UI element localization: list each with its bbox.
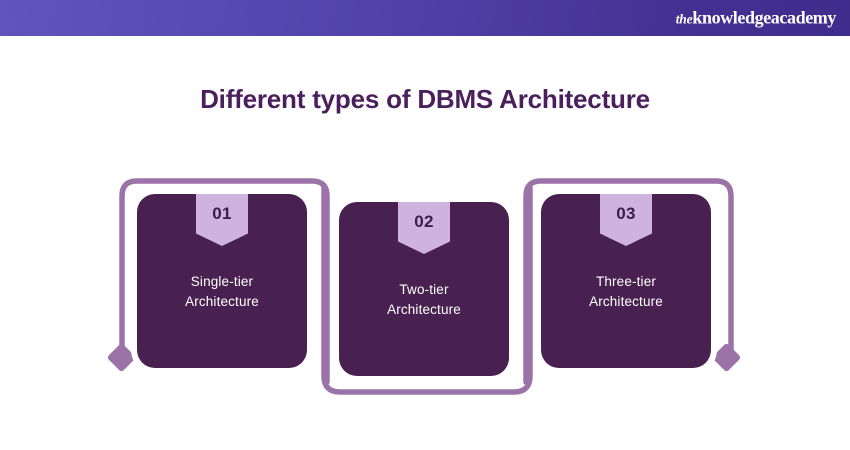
infographic-diagram: 01 Single-tier Architecture 02 Two-tier … [0,0,850,450]
card-1-label-line1: Single-tier [185,272,259,292]
card-1-label-line2: Architecture [185,292,259,312]
card-2-ribbon: 02 [398,202,450,254]
card-3-label-line2: Architecture [589,292,663,312]
card-2-label: Two-tier Architecture [377,280,471,319]
card-1-ribbon: 01 [196,194,248,246]
card-2-label-line2: Architecture [387,300,461,320]
card-3-label: Three-tier Architecture [579,272,673,311]
card-1-label: Single-tier Architecture [175,272,269,311]
card-1-number: 01 [212,204,232,224]
card-two-tier[interactable]: 02 Two-tier Architecture [339,202,509,376]
card-3-number: 03 [616,204,636,224]
card-2-label-line1: Two-tier [387,280,461,300]
card-single-tier[interactable]: 01 Single-tier Architecture [137,194,307,368]
card-2-number: 02 [414,212,434,232]
card-3-ribbon: 03 [600,194,652,246]
diamond-marker-left [107,343,137,373]
card-3-label-line1: Three-tier [589,272,663,292]
card-three-tier[interactable]: 03 Three-tier Architecture [541,194,711,368]
diamond-marker-right [712,343,742,373]
